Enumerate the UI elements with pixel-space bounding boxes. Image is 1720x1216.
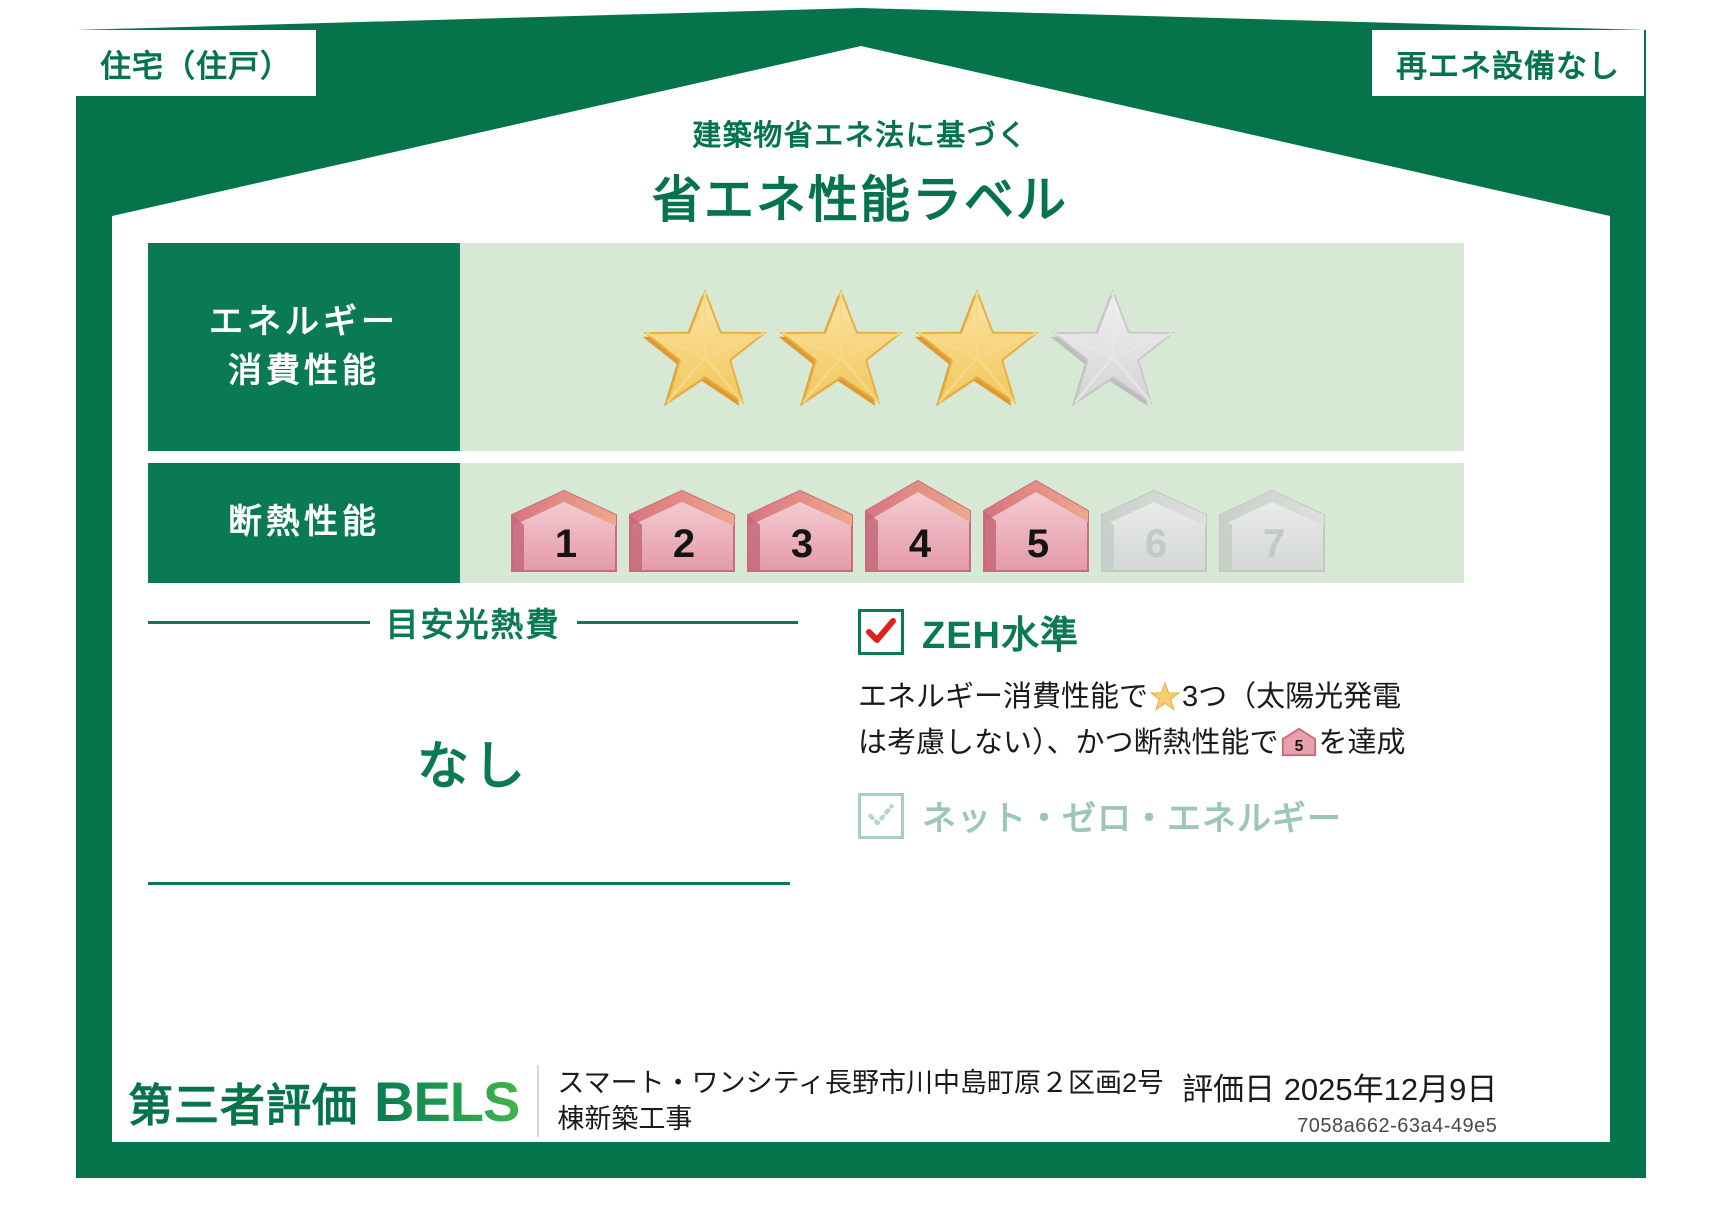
insulation-performance-row: 断熱性能 1234567 [148, 463, 1464, 583]
badge-building-type: 住宅（住戸） [76, 30, 316, 96]
insulation-grade-house-active: 5 [980, 477, 1092, 575]
star-filled-icon [642, 286, 768, 408]
evaluation-date-value: 2025年12月9日 [1284, 1072, 1498, 1107]
insulation-grade-house-active: 2 [626, 487, 738, 575]
bels-wordmark: BELS [374, 1069, 519, 1134]
star-inline-icon [1150, 682, 1180, 723]
insulation-grade-house-inactive: 6 [1098, 487, 1210, 575]
insulation-grade-inline-badge: 5 [1281, 727, 1317, 769]
evaluation-date-label: 評価日 [1182, 1072, 1275, 1107]
svg-text:5: 5 [1294, 738, 1303, 755]
insulation-grade-number: 7 [1263, 522, 1285, 566]
dotted-check-icon [866, 801, 896, 831]
insulation-grade-number: 1 [555, 522, 577, 566]
rule-right [577, 621, 799, 624]
energy-label-line1: エネルギー [209, 298, 399, 347]
zeh-desc-line1-post: 3つ（太陽光発電 [1182, 681, 1401, 713]
zeh-description: エネルギー消費性能で3つ（太陽光発電 は考慮しない）、かつ断熱性能で5を達成 [858, 677, 1458, 769]
star-filled-icon [778, 286, 904, 408]
check-icon [864, 615, 898, 649]
insulation-grade-number: 3 [791, 522, 813, 566]
star-empty-icon [1050, 286, 1176, 408]
insulation-grade-house-active: 3 [744, 487, 856, 575]
net-zero-energy-label: ネット・ゼロ・エネルギー [922, 791, 1342, 840]
net-zero-energy-checkbox[interactable] [858, 793, 904, 839]
evaluation-id: 7058a662-63a4-49e5 [1179, 1115, 1497, 1138]
third-party-eval-label: 第三者評価 [128, 1069, 358, 1134]
insulation-grade-scale: 1234567 [460, 463, 1328, 583]
energy-performance-row: エネルギー 消費性能 [148, 243, 1464, 451]
zeh-standard-row: ZEH水準 [858, 604, 1458, 659]
insulation-grade-house-active: 1 [508, 487, 620, 575]
title-area: 建築物省エネ法に基づく 省エネ性能ラベル [0, 112, 1720, 232]
bels-logo: 第三者評価 BELS [112, 1069, 537, 1134]
footer-bar: 第三者評価 BELS スマート・ワンシティ長野市川中島町原２区画2号棟新築工事 … [112, 1060, 1610, 1142]
insulation-grade-house-inactive: 7 [1216, 487, 1328, 575]
zeh-standard-label: ZEH水準 [922, 604, 1079, 659]
zeh-section: ZEH水準 エネルギー消費性能で3つ（太陽光発電 は考慮しない）、かつ断熱性能で… [858, 604, 1458, 840]
energy-performance-label: エネルギー 消費性能 [148, 243, 460, 451]
energy-performance-body [460, 243, 1464, 451]
title-subtitle: 建築物省エネ法に基づく [0, 112, 1720, 154]
rule-left [148, 621, 370, 624]
energy-label-line2: 消費性能 [228, 347, 380, 396]
insulation-grade-number: 4 [909, 522, 932, 566]
bels-energy-label: 住宅（住戸） 再エネ設備なし 建築物省エネ法に基づく 省エネ性能ラベル エネルギ… [0, 0, 1720, 1216]
zeh-description-line2: は考慮しない）、かつ断熱性能で5を達成 [858, 723, 1458, 769]
badge-renewable-energy: 再エネ設備なし [1372, 30, 1644, 96]
evaluation-block: 評価日 2025年12月9日 7058a662-63a4-49e5 [1179, 1064, 1509, 1138]
star-filled-icon [914, 286, 1040, 408]
zeh-checkbox[interactable] [858, 609, 904, 655]
star-rating [460, 286, 1176, 408]
insulation-performance-label: 断熱性能 [148, 463, 460, 583]
insulation-grade-number: 2 [673, 522, 695, 566]
insulation-grade-house-active: 4 [862, 477, 974, 575]
zeh-desc-line1-pre: エネルギー消費性能で [858, 681, 1148, 713]
evaluation-date: 評価日 2025年12月9日 [1179, 1064, 1497, 1109]
utility-cost-section: 目安光熱費 なし [148, 598, 798, 799]
page-title: 省エネ性能ラベル [0, 160, 1720, 232]
insulation-grade-number: 5 [1027, 522, 1049, 566]
insulation-grade-number: 6 [1145, 522, 1167, 566]
utility-cost-value: なし [148, 724, 798, 799]
zeh-desc-line2-pre: は考慮しない）、かつ断熱性能で [858, 727, 1279, 759]
utility-cost-bottom-rule [148, 882, 790, 885]
utility-cost-header: 目安光熱費 [148, 598, 798, 646]
zeh-desc-line2-post: を達成 [1319, 727, 1406, 759]
property-name: スマート・ワンシティ長野市川中島町原２区画2号棟新築工事 [539, 1065, 1179, 1137]
insulation-performance-body: 1234567 [460, 463, 1464, 583]
net-zero-energy-row: ネット・ゼロ・エネルギー [858, 791, 1458, 840]
utility-cost-title: 目安光熱費 [386, 598, 561, 646]
zeh-description-line1: エネルギー消費性能で3つ（太陽光発電 [858, 677, 1458, 723]
